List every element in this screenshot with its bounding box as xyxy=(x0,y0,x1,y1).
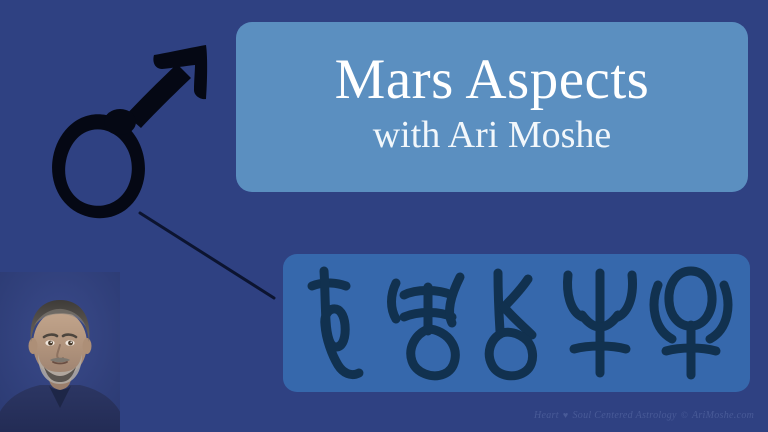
presenter-webcam[interactable] xyxy=(0,272,120,432)
heart-icon: ♥ xyxy=(563,410,569,420)
chiron-glyph xyxy=(482,261,554,385)
presenter-portrait xyxy=(0,272,120,432)
pluto-glyph xyxy=(648,261,734,385)
page-title: Mars Aspects xyxy=(335,51,650,109)
title-panel: Mars Aspects with Ari Moshe xyxy=(236,22,748,192)
slide-canvas: Mars Aspects with Ari Moshe xyxy=(0,0,768,432)
watermark-site: AriMoshe.com xyxy=(692,410,754,421)
uranus-glyph xyxy=(382,261,478,385)
watermark-text-left: Heart xyxy=(534,410,559,421)
watermark-text-mid: Soul Centered Astrology xyxy=(573,410,677,421)
mars-glyph-svg xyxy=(34,34,224,219)
mars-glyph xyxy=(34,34,224,219)
page-subtitle: with Ari Moshe xyxy=(373,115,612,157)
copyright-icon: © xyxy=(681,410,688,420)
watermark: Heart ♥ Soul Centered Astrology © AriMos… xyxy=(534,406,762,424)
neptune-glyph xyxy=(558,261,644,385)
planet-glyph-panel xyxy=(283,254,750,392)
saturn-glyph xyxy=(300,263,378,383)
